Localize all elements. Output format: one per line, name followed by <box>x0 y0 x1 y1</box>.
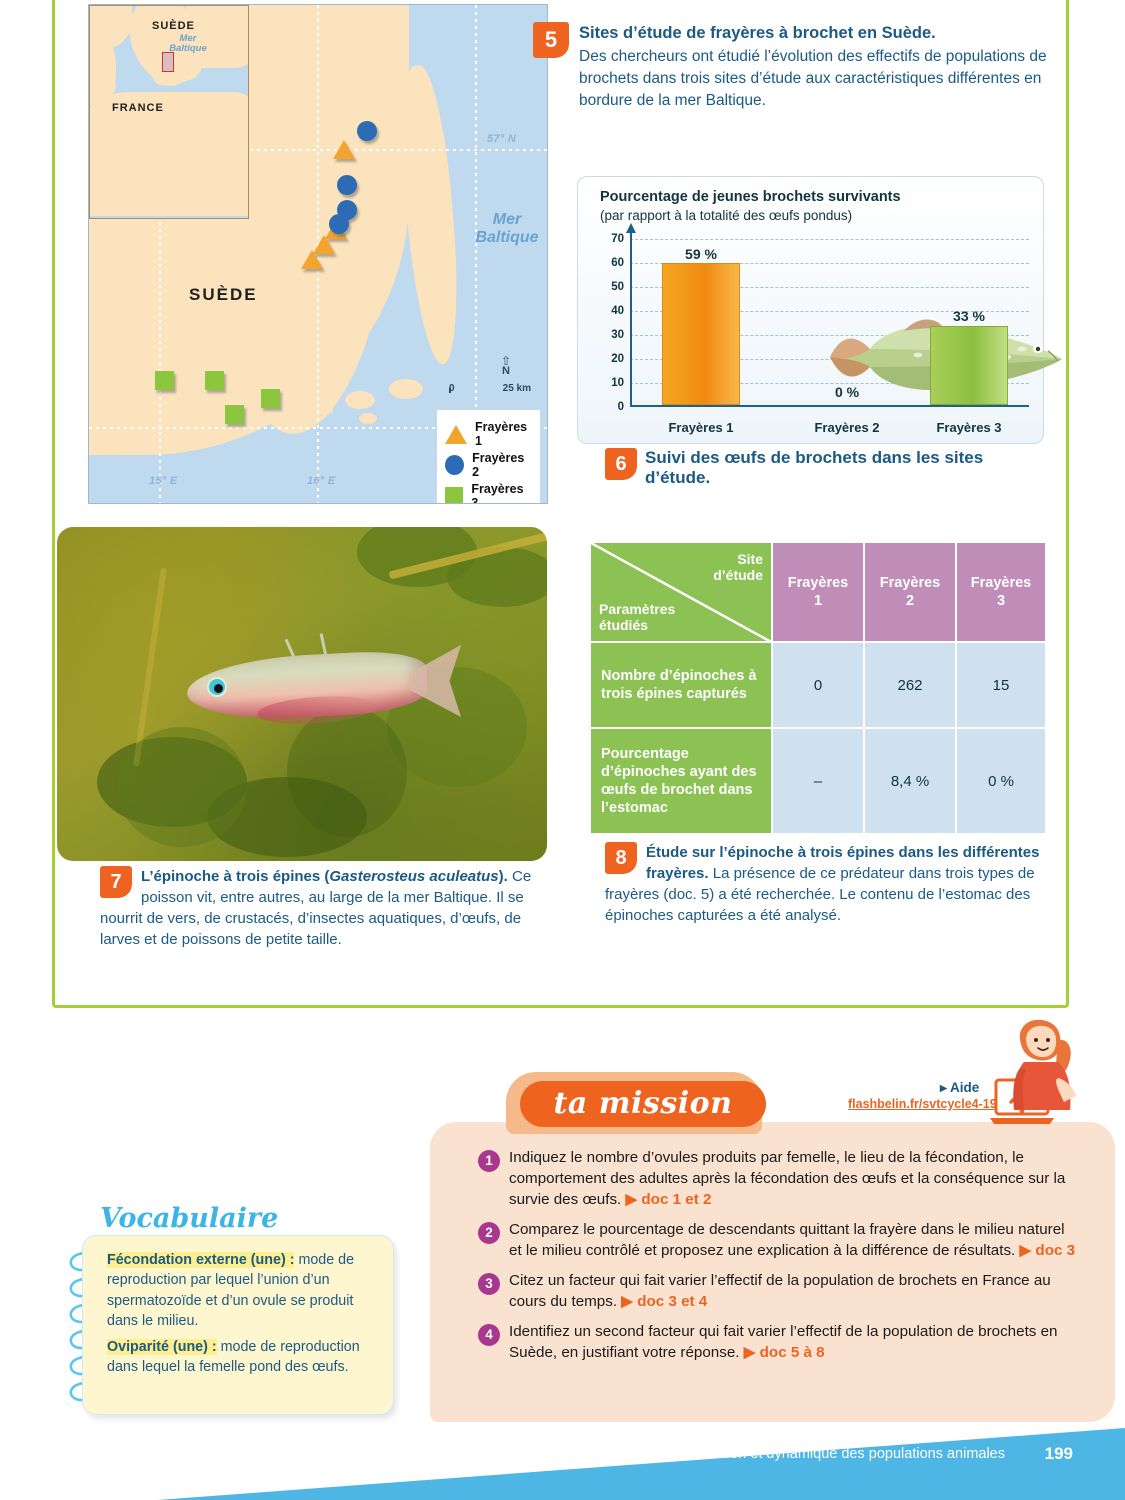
chart-subtitle: (par rapport à la totalité des œufs pond… <box>600 208 852 223</box>
question-number: 3 <box>478 1273 500 1295</box>
legend-label: Frayères 2 <box>472 451 532 479</box>
table-corner-param-label: Paramètres étudiés <box>599 601 675 633</box>
mission-question-2: 2 Comparez le pourcentage de descendants… <box>478 1220 1078 1262</box>
doc5-title: Sites d’étude de frayères à brochet en S… <box>579 24 1053 43</box>
square-marker <box>445 487 463 505</box>
stickleback-photo <box>57 527 547 861</box>
map-islet <box>389 379 423 399</box>
vocab-term: Oviparité (une) : <box>107 1339 217 1355</box>
footer-title: Reproduction et dynamique des population… <box>660 1446 1005 1462</box>
map-coord-15e: 15° E <box>149 475 178 487</box>
question-text: Citez un facteur qui fait varier l’effec… <box>509 1272 1051 1310</box>
table-col-header-3: Frayères 3 <box>956 542 1046 642</box>
doc7-species-name: Gasterosteus aculeatus <box>329 868 498 885</box>
map-sea-label: Mer Baltique <box>459 211 548 248</box>
vocabulaire-entry-1: Fécondation externe (une) : mode de repr… <box>107 1250 377 1331</box>
map-islet <box>285 397 307 411</box>
y-tick: 70 <box>611 233 624 245</box>
chart-axis-x-line <box>630 405 1029 407</box>
question-number: 2 <box>478 1222 500 1244</box>
chart-gridline <box>630 239 1029 240</box>
doc-number-badge-5: 5 <box>533 22 569 58</box>
question-number: 4 <box>478 1324 500 1346</box>
map-legend: Frayères 1 Frayères 2 Frayères 3 <box>436 409 541 504</box>
y-tick: 50 <box>611 281 624 293</box>
doc8-caption: 8 Étude sur l’épinoche à trois épines da… <box>605 842 1053 926</box>
doc-reference[interactable]: ▶ doc 3 et 4 <box>621 1293 707 1310</box>
textbook-page: 57° N 56° N 15° E 16° E 17° E Mer Baltiq… <box>0 0 1125 1500</box>
doc5-heading: 5 Sites d’étude de frayères à brochet en… <box>533 22 1053 112</box>
square-marker <box>225 405 244 424</box>
y-tick: 30 <box>611 329 624 341</box>
table-col-header-1: Frayères 1 <box>772 542 864 642</box>
doc5-text: Des chercheurs ont étudié l’évolution de… <box>579 46 1053 112</box>
footer-separator: • <box>647 1446 660 1462</box>
bar-frayeres-1 <box>662 263 740 405</box>
vocabulaire-box: Fécondation externe (une) : mode de repr… <box>82 1235 394 1415</box>
footer-page-number: 199 <box>1045 1444 1073 1464</box>
table-cell-r1c1: 0 <box>772 642 864 728</box>
survival-bar-chart: Pourcentage de jeunes brochets survivant… <box>577 176 1044 444</box>
legend-label: Frayères 3 <box>471 482 532 504</box>
circle-marker <box>329 214 349 234</box>
inset-label-sweden: SUÈDE <box>152 20 195 32</box>
footer-chapter: CHAPITRE 12 <box>528 1445 647 1462</box>
aide-url-link[interactable]: flashbelin.fr/svtcycle4-199 <box>848 1097 1004 1111</box>
chart-title: Pourcentage de jeunes brochets survivant… <box>600 189 901 205</box>
y-tick: 40 <box>611 305 624 317</box>
triangle-marker <box>333 140 355 159</box>
map-scale-bar: 0 25 km <box>449 383 531 395</box>
doc7-caption: 7 L’épinoche à trois épines (Gasterosteu… <box>100 866 550 950</box>
square-marker <box>155 371 174 390</box>
chart-plot-area: 0 10 20 30 40 50 60 70 <box>630 239 1029 407</box>
table-corner-site-label: Site d’étude <box>713 551 763 583</box>
doc7-title-b: ). <box>499 868 508 885</box>
fish-pupil <box>214 684 223 693</box>
doc-reference[interactable]: ▶ doc 1 et 2 <box>626 1191 712 1208</box>
map-islet <box>317 405 333 415</box>
aide-label: ▸ Aide <box>940 1080 979 1096</box>
x-tick-label-2: Frayères 2 <box>792 420 902 435</box>
mission-title: ta mission <box>520 1080 766 1128</box>
chart-y-axis: 0 10 20 30 40 50 60 70 <box>600 239 628 407</box>
table-corner-cell: Site d’étude Paramètres étudiés <box>590 542 772 642</box>
stickleback-study-table: Site d’étude Paramètres étudiés Frayères… <box>589 541 1047 835</box>
legend-label: Frayères 1 <box>475 420 532 448</box>
doc-number-badge-8: 8 <box>605 842 637 874</box>
chart-axis-y-line <box>630 231 632 407</box>
map-country-label-sweden: SUÈDE <box>189 285 258 305</box>
north-arrow: ⇧ N <box>501 357 511 377</box>
table-header-row: Site d’étude Paramètres étudiés Frayères… <box>590 542 1046 642</box>
mission-question-1: 1 Indiquez le nombre d’ovules produits p… <box>478 1148 1078 1211</box>
legend-item: Frayères 2 <box>445 451 532 479</box>
student-illustration <box>1000 1018 1078 1114</box>
doc6-title: Suivi des œufs de brochets dans les site… <box>645 448 983 487</box>
y-tick: 0 <box>618 401 624 413</box>
circle-marker <box>445 455 464 475</box>
table-cell-r1c3: 15 <box>956 642 1046 728</box>
mission-question-3: 3 Citez un facteur qui fait varier l’eff… <box>478 1271 1078 1313</box>
y-tick: 60 <box>611 257 624 269</box>
x-tick-label-1: Frayères 1 <box>662 420 740 435</box>
map-coord-57n: 57° N <box>487 133 516 145</box>
legend-item: Frayères 1 <box>445 420 532 448</box>
circle-marker <box>337 175 357 195</box>
table-row: Pourcentage d’épinoches ayant des œufs d… <box>590 728 1046 834</box>
inset-study-area-box <box>162 52 174 72</box>
doc-reference[interactable]: ▶ doc 5 à 8 <box>744 1344 825 1361</box>
triangle-marker <box>445 425 467 444</box>
doc-number-badge-7: 7 <box>100 866 132 898</box>
square-marker <box>205 371 224 390</box>
x-tick-label-3: Frayères 3 <box>930 420 1008 435</box>
mission-question-list: 1 Indiquez le nombre d’ovules produits p… <box>478 1148 1078 1373</box>
vocabulaire-title: Vocabulaire <box>100 1203 278 1234</box>
square-marker <box>261 389 280 408</box>
chart-axis-arrow <box>626 223 636 233</box>
doc-reference[interactable]: ▶ doc 3 <box>1020 1242 1076 1259</box>
europe-inset-map: SUÈDE Mer Baltique FRANCE <box>89 5 249 219</box>
footer-text: CHAPITRE 12 • Reproduction et dynamique … <box>528 1445 1005 1462</box>
doc7-title-a: L’épinoche à trois épines ( <box>141 868 329 885</box>
bar-frayeres-3 <box>930 326 1008 405</box>
table-cell-r1c2: 262 <box>864 642 956 728</box>
legend-item: Frayères 3 <box>445 482 532 504</box>
question-text: Indiquez le nombre d’ovules produits par… <box>509 1149 1065 1208</box>
map-coord-16e: 16° E <box>307 475 336 487</box>
question-text: Comparez le pourcentage de descendants q… <box>509 1221 1065 1259</box>
table-cell-r2c1: – <box>772 728 864 834</box>
y-tick: 20 <box>611 353 624 365</box>
table-row-header-2: Pourcentage d’épinoches ayant des œufs d… <box>590 728 772 834</box>
table-cell-r2c2: 8,4 % <box>864 728 956 834</box>
mission-question-4: 4 Identifiez un second facteur qui fait … <box>478 1322 1078 1364</box>
map-islet <box>345 391 375 409</box>
sweden-study-map: 57° N 56° N 15° E 16° E 17° E Mer Baltiq… <box>88 4 548 504</box>
vocab-term: Fécondation externe (une) : <box>107 1252 294 1268</box>
inset-label-france: FRANCE <box>112 102 164 114</box>
vocabulaire-entry-2: Oviparité (une) : mode de reproduction d… <box>107 1337 377 1378</box>
circle-marker <box>357 121 377 141</box>
doc6-caption: 6 Suivi des œufs de brochets dans les si… <box>605 448 1045 488</box>
question-number: 1 <box>478 1150 500 1172</box>
y-tick: 10 <box>611 377 624 389</box>
bar-value-label-3: 33 % <box>930 308 1008 324</box>
table-row-header-1: Nombre d’épinoches à trois épines captur… <box>590 642 772 728</box>
doc-number-badge-6: 6 <box>605 448 637 480</box>
map-islet <box>359 413 377 424</box>
table-col-header-2: Frayères 2 <box>864 542 956 642</box>
bar-value-label-2: 0 % <box>792 384 902 400</box>
bar-value-label-1: 59 % <box>662 246 740 262</box>
triangle-marker <box>301 250 323 269</box>
table-cell-r2c3: 0 % <box>956 728 1046 834</box>
table-row: Nombre d’épinoches à trois épines captur… <box>590 642 1046 728</box>
